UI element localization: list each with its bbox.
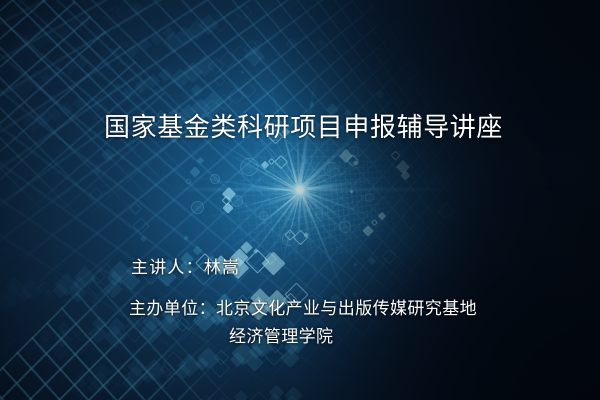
slide-title: 国家基金类科研项目申报辅导讲座 bbox=[104, 110, 503, 144]
organizer-label: 主办单位：北京文化产业与出版传媒研究基地 bbox=[129, 297, 477, 320]
department-label: 经济管理学院 bbox=[229, 325, 333, 348]
speaker-label: 主讲人：林嵩 bbox=[131, 256, 240, 280]
presentation-slide: 国家基金类科研项目申报辅导讲座 主讲人：林嵩 主办单位：北京文化产业与出版传媒研… bbox=[0, 0, 600, 400]
